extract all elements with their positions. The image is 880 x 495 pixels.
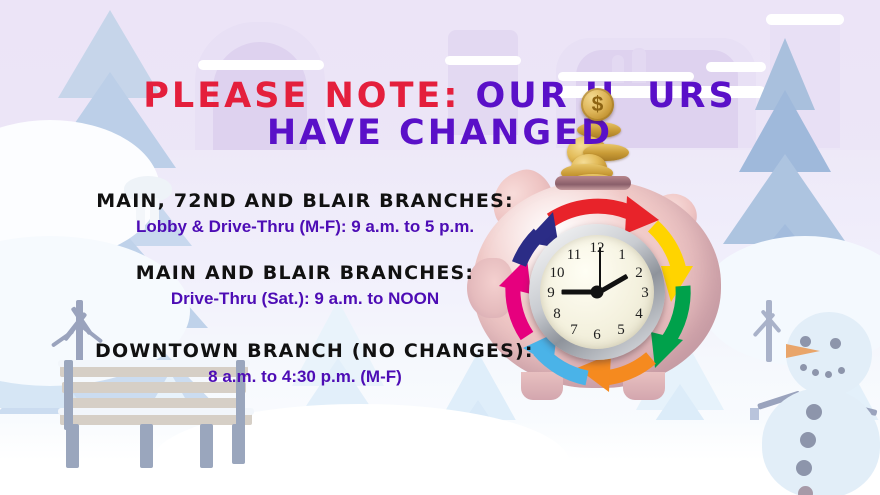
clock-numeral-11: 11 <box>565 248 583 263</box>
headline-line-2: HAVE CHANGED <box>0 115 880 152</box>
snowman-eye-right <box>830 338 841 349</box>
branch-hours-1: Lobby & Drive-Thru (M-F): 9 a.m. to 5 p.… <box>95 217 515 237</box>
clock-face: 12 1 2 3 4 5 6 7 8 9 10 11 <box>540 235 654 349</box>
branch-header-3: DOWNTOWN BRANCH (NO CHANGES): <box>95 340 515 362</box>
headline-red-text: PLEASE NOTE: <box>143 76 460 116</box>
hours-block-2: MAIN AND BLAIR BRANCHES: Drive-Thru (Sat… <box>95 262 515 309</box>
clock-numeral-2: 2 <box>630 266 648 281</box>
branch-header-2: MAIN AND BLAIR BRANCHES: <box>95 262 515 284</box>
headline-line-1: PLEASE NOTE: OUR HURS <box>0 78 880 115</box>
clock-numeral-8: 8 <box>548 307 566 322</box>
poster-canvas: PLEASE NOTE: OUR HURS HAVE CHANGED $ MAI… <box>0 0 880 495</box>
branch-header-1: MAIN, 72ND AND BLAIR BRANCHES: <box>95 190 515 212</box>
clock-numeral-6: 6 <box>588 328 606 343</box>
clock-numeral-3: 3 <box>636 286 654 301</box>
carrot-nose-icon <box>786 344 820 358</box>
snowman-body <box>762 388 880 495</box>
snowman-button-1 <box>806 404 822 420</box>
background-scenery <box>0 0 880 495</box>
hours-block-3: DOWNTOWN BRANCH (NO CHANGES): 8 a.m. to … <box>95 340 515 387</box>
branch-hours-2: Drive-Thru (Sat.): 9 a.m. to NOON <box>95 289 515 309</box>
branch-hours-3: 8 a.m. to 4:30 p.m. (M-F) <box>95 367 515 387</box>
orange-arrow <box>605 358 651 378</box>
clock-numeral-1: 1 <box>613 248 631 263</box>
analog-clock: 12 1 2 3 4 5 6 7 8 9 10 11 <box>529 224 665 360</box>
clock-numeral-4: 4 <box>630 307 648 322</box>
clock-numeral-5: 5 <box>612 323 630 338</box>
clock-numeral-10: 10 <box>548 266 566 281</box>
dollar-coin-icon: $ <box>581 88 614 121</box>
hours-block-1: MAIN, 72ND AND BLAIR BRANCHES: Lobby & D… <box>95 190 515 237</box>
snowman-button-4 <box>798 486 813 495</box>
clock-numeral-9: 9 <box>542 286 560 301</box>
snowman-button-2 <box>800 432 816 448</box>
clock-numeral-12: 12 <box>588 241 606 256</box>
headline-purple-after: URS <box>647 76 737 116</box>
clock-numeral-7: 7 <box>565 323 583 338</box>
dollar-sign: $ <box>592 93 604 117</box>
snowman-button-3 <box>796 460 812 476</box>
page-title: PLEASE NOTE: OUR HURS HAVE CHANGED <box>0 78 880 152</box>
red-arrow <box>551 206 629 220</box>
clock-center-pin <box>591 286 604 299</box>
